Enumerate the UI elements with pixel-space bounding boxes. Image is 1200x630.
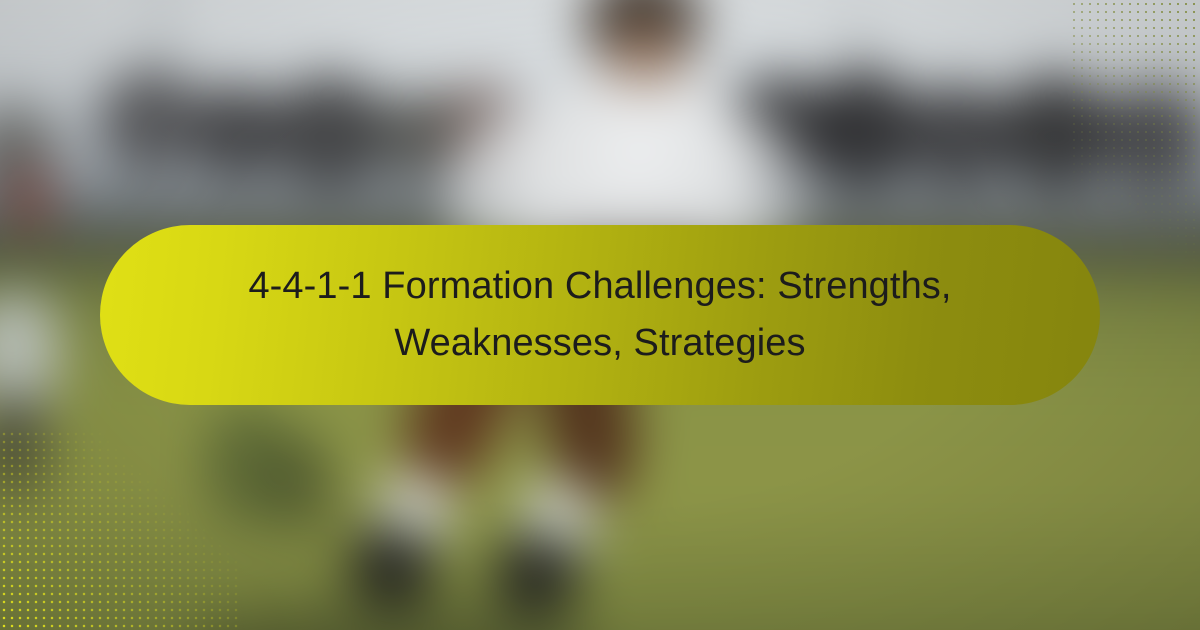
crowd-blob xyxy=(270,75,389,188)
background-player-blob xyxy=(270,435,336,533)
title-pill: 4-4-1-1 Formation Challenges: Strengths,… xyxy=(100,225,1100,405)
article-banner: 4-4-1-1 Formation Challenges: Strengths,… xyxy=(0,0,1200,630)
crowd-blob-red xyxy=(6,165,52,233)
secondary-player-legs xyxy=(0,390,46,495)
crowd-blob xyxy=(1102,83,1200,188)
crowd-blob xyxy=(811,68,917,188)
page-title-line-2: Weaknesses, Strategies xyxy=(394,322,805,364)
page-title-line-1: 4-4-1-1 Formation Challenges: Strengths, xyxy=(248,265,951,307)
crowd-blob xyxy=(904,83,1010,188)
crowd-blob xyxy=(996,75,1115,188)
crowd-blob xyxy=(98,68,204,173)
page-title: 4-4-1-1 Formation Challenges: Strengths,… xyxy=(248,258,951,372)
